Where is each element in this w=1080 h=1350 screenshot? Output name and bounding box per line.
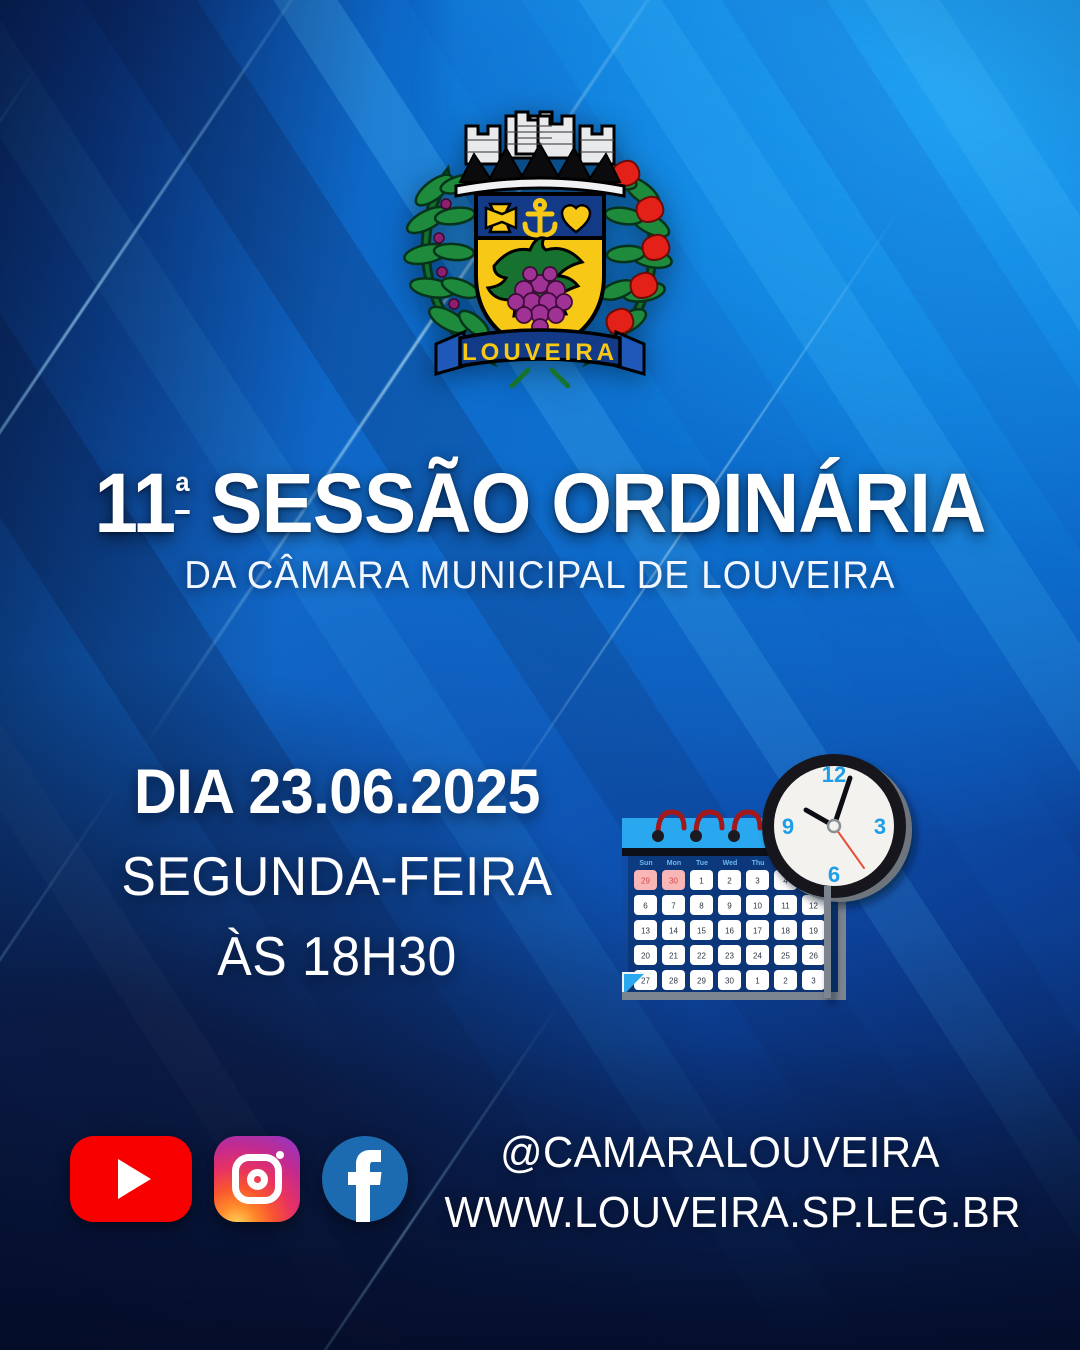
clock-stand (824, 886, 831, 998)
svg-text:Wed: Wed (723, 860, 738, 867)
svg-text:Mon: Mon (667, 860, 681, 867)
instagram-icon[interactable] (214, 1136, 300, 1222)
youtube-icon[interactable] (70, 1136, 192, 1222)
event-date: DIA 23.06.2025 (107, 756, 568, 828)
calendar-day-number: 3 (811, 977, 816, 986)
svg-text:Tue: Tue (696, 860, 708, 867)
calendar-day-number: 11 (781, 902, 790, 911)
calendar-day-number: 16 (725, 927, 734, 936)
calendar-day-number: 12 (809, 902, 818, 911)
calendar-day-number: 18 (781, 927, 790, 936)
calendar-day-number: 7 (671, 902, 676, 911)
calendar-day-number: 30 (669, 877, 678, 886)
calendar-day-number: 25 (781, 952, 790, 961)
calendar-day-number: 17 (753, 927, 762, 936)
calendar-day-number: 9 (727, 902, 732, 911)
event-details: DIA 23.06.2025 SEGUNDA-FEIRA ÀS 18H30 (92, 756, 582, 988)
poster-canvas: LOUVEIRA 11ª SESSÃO ORDINÁRIA DA CÂMARA … (0, 0, 1080, 1350)
calendar-day-number: 14 (669, 927, 678, 936)
calendar-day-number: 24 (753, 952, 762, 961)
calendar-day-number: 6 (643, 902, 648, 911)
calendar-day-number: 1 (755, 977, 760, 986)
calendar-day-number: 30 (725, 977, 734, 986)
calendar-day-number: 26 (809, 952, 818, 961)
calendar-day-number: 2 (783, 977, 788, 986)
calendar-day-number: 2 (727, 877, 732, 886)
calendar-day-number: 21 (669, 952, 678, 961)
instagram-lens (247, 1169, 268, 1190)
calendar-day-number: 8 (699, 902, 704, 911)
calendar-day-number: 28 (669, 977, 678, 986)
event-weekday: SEGUNDA-FEIRA (107, 844, 568, 908)
youtube-play-triangle (118, 1159, 151, 1199)
instagram-square (232, 1154, 282, 1204)
calendar-day-number: 27 (641, 977, 650, 986)
clock-center-pin (828, 820, 840, 832)
calendar-day-number: 10 (753, 902, 762, 911)
mural-crown-icon (456, 112, 624, 196)
svg-text:12: 12 (822, 762, 846, 787)
calendar-day-number: 15 (697, 927, 706, 936)
website-url[interactable]: WWW.LOUVEIRA.SP.LEG.BR (445, 1188, 996, 1238)
coat-of-arms-louveira: LOUVEIRA (390, 108, 690, 388)
page-subtitle: DA CÂMARA MUNICIPAL DE LOUVEIRA (32, 554, 1047, 598)
crest-banner-text: LOUVEIRA (462, 339, 618, 366)
event-time: ÀS 18H30 (107, 924, 568, 988)
page-title: 11ª SESSÃO ORDINÁRIA (38, 462, 1042, 544)
svg-text:6: 6 (828, 862, 840, 887)
title-block: 11ª SESSÃO ORDINÁRIA DA CÂMARA MUNICIPAL… (0, 462, 1080, 598)
svg-text:Thu: Thu (752, 860, 765, 867)
calendar-day-number: 1 (699, 877, 704, 886)
svg-text:9: 9 (782, 814, 794, 839)
calendar-day-number: 13 (641, 927, 650, 936)
footer-contact: @CAMARALOUVEIRA WWW.LOUVEIRA.SP.LEG.BR (430, 1128, 1010, 1238)
crest-banner: LOUVEIRA (436, 330, 644, 386)
title-number: 11 (94, 456, 175, 550)
calendar-clock-illustration: Sun Mon Tue Wed Thu Fri 2930123467891011… (612, 748, 922, 1010)
calendar-day-number: 3 (755, 877, 760, 886)
svg-text:3: 3 (874, 814, 886, 839)
facebook-f-glyph (322, 1136, 408, 1222)
calendar-day-number: 20 (641, 952, 650, 961)
calendar-day-number: 22 (697, 952, 706, 961)
calendar-day-number: 19 (809, 927, 818, 936)
svg-text:Sun: Sun (639, 860, 652, 867)
calendar-day-number: 29 (641, 877, 650, 886)
calendar-day-number: 23 (725, 952, 734, 961)
facebook-icon[interactable] (322, 1136, 408, 1222)
instagram-dot (276, 1151, 284, 1159)
title-ordinal-indicator: ª (175, 468, 189, 515)
title-rest: SESSÃO ORDINÁRIA (190, 456, 986, 550)
calendar-day-number: 29 (697, 977, 706, 986)
social-icons[interactable] (70, 1136, 408, 1222)
social-handle[interactable]: @CAMARALOUVEIRA (445, 1128, 996, 1178)
calendar-day-grid: 2930123467891011121314151617181920212223… (634, 870, 825, 990)
